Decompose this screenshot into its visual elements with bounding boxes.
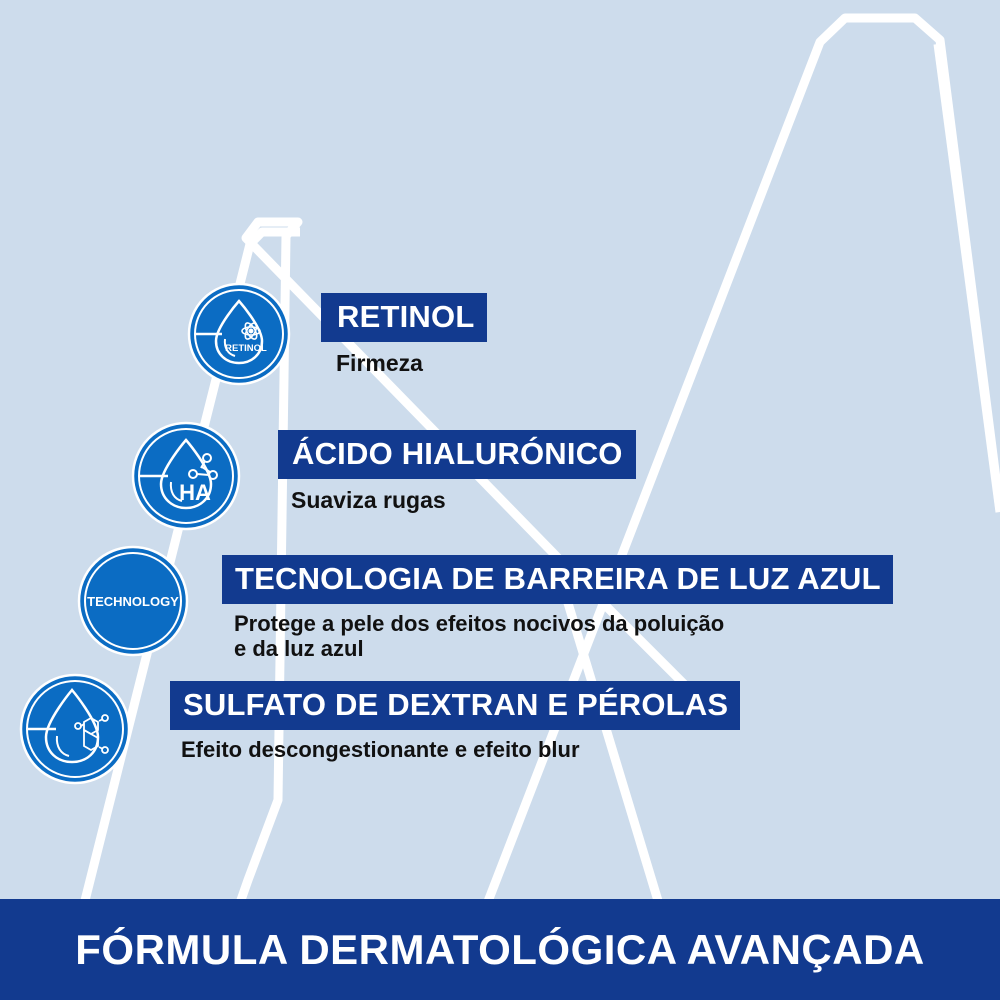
technology-icon-label: TECHNOLOGY — [87, 594, 179, 609]
footer-band: FÓRMULA DERMATOLÓGICA AVANÇADA — [0, 899, 1000, 1000]
feature-row-dextran-sulfate: SULFATO DE DEXTRAN E PÉROLAS Efeito desc… — [18, 672, 740, 786]
feature-text-hyaluronic-acid: ÁCIDO HIALURÓNICO Suaviza rugas — [278, 430, 636, 514]
dextran-sulfate-drop-icon — [18, 672, 132, 786]
feature-subtitle-retinol: Firmeza — [336, 351, 487, 377]
ha-icon-label: HA — [179, 480, 211, 505]
feature-row-hyaluronic-acid: HA ÁCIDO HIALURÓNICO Suaviza rugas — [130, 420, 636, 532]
feature-subtitle-technology: Protege a pele dos efeitos nocivos da po… — [234, 612, 893, 661]
footer-headline: FÓRMULA DERMATOLÓGICA AVANÇADA — [75, 926, 924, 974]
feature-title-dextran-sulfate: SULFATO DE DEXTRAN E PÉROLAS — [170, 681, 740, 730]
retinol-icon-label: RETINOL — [225, 343, 267, 354]
feature-title-retinol: RETINOL — [321, 293, 487, 342]
technology-circle-icon: TECHNOLOGY — [76, 544, 190, 658]
feature-subtitle-dextran-sulfate: Efeito descongestionante e efeito blur — [181, 738, 740, 763]
infographic-canvas: RETINOL RETINOL Firmeza — [0, 0, 1000, 1000]
hyaluronic-acid-drop-icon: HA — [130, 420, 242, 532]
feature-subtitle-hyaluronic-acid: Suaviza rugas — [291, 488, 636, 514]
feature-title-technology: TECNOLOGIA DE BARREIRA DE LUZ AZUL — [222, 555, 893, 604]
feature-row-technology: TECHNOLOGY TECNOLOGIA DE BARREIRA DE LUZ… — [76, 544, 893, 661]
feature-text-technology: TECNOLOGIA DE BARREIRA DE LUZ AZUL Prote… — [222, 555, 893, 661]
retinol-drop-icon: RETINOL — [186, 281, 292, 387]
feature-row-retinol: RETINOL RETINOL Firmeza — [186, 281, 487, 387]
feature-text-retinol: RETINOL Firmeza — [321, 293, 487, 377]
feature-text-dextran-sulfate: SULFATO DE DEXTRAN E PÉROLAS Efeito desc… — [170, 681, 740, 763]
feature-title-hyaluronic-acid: ÁCIDO HIALURÓNICO — [278, 430, 636, 479]
